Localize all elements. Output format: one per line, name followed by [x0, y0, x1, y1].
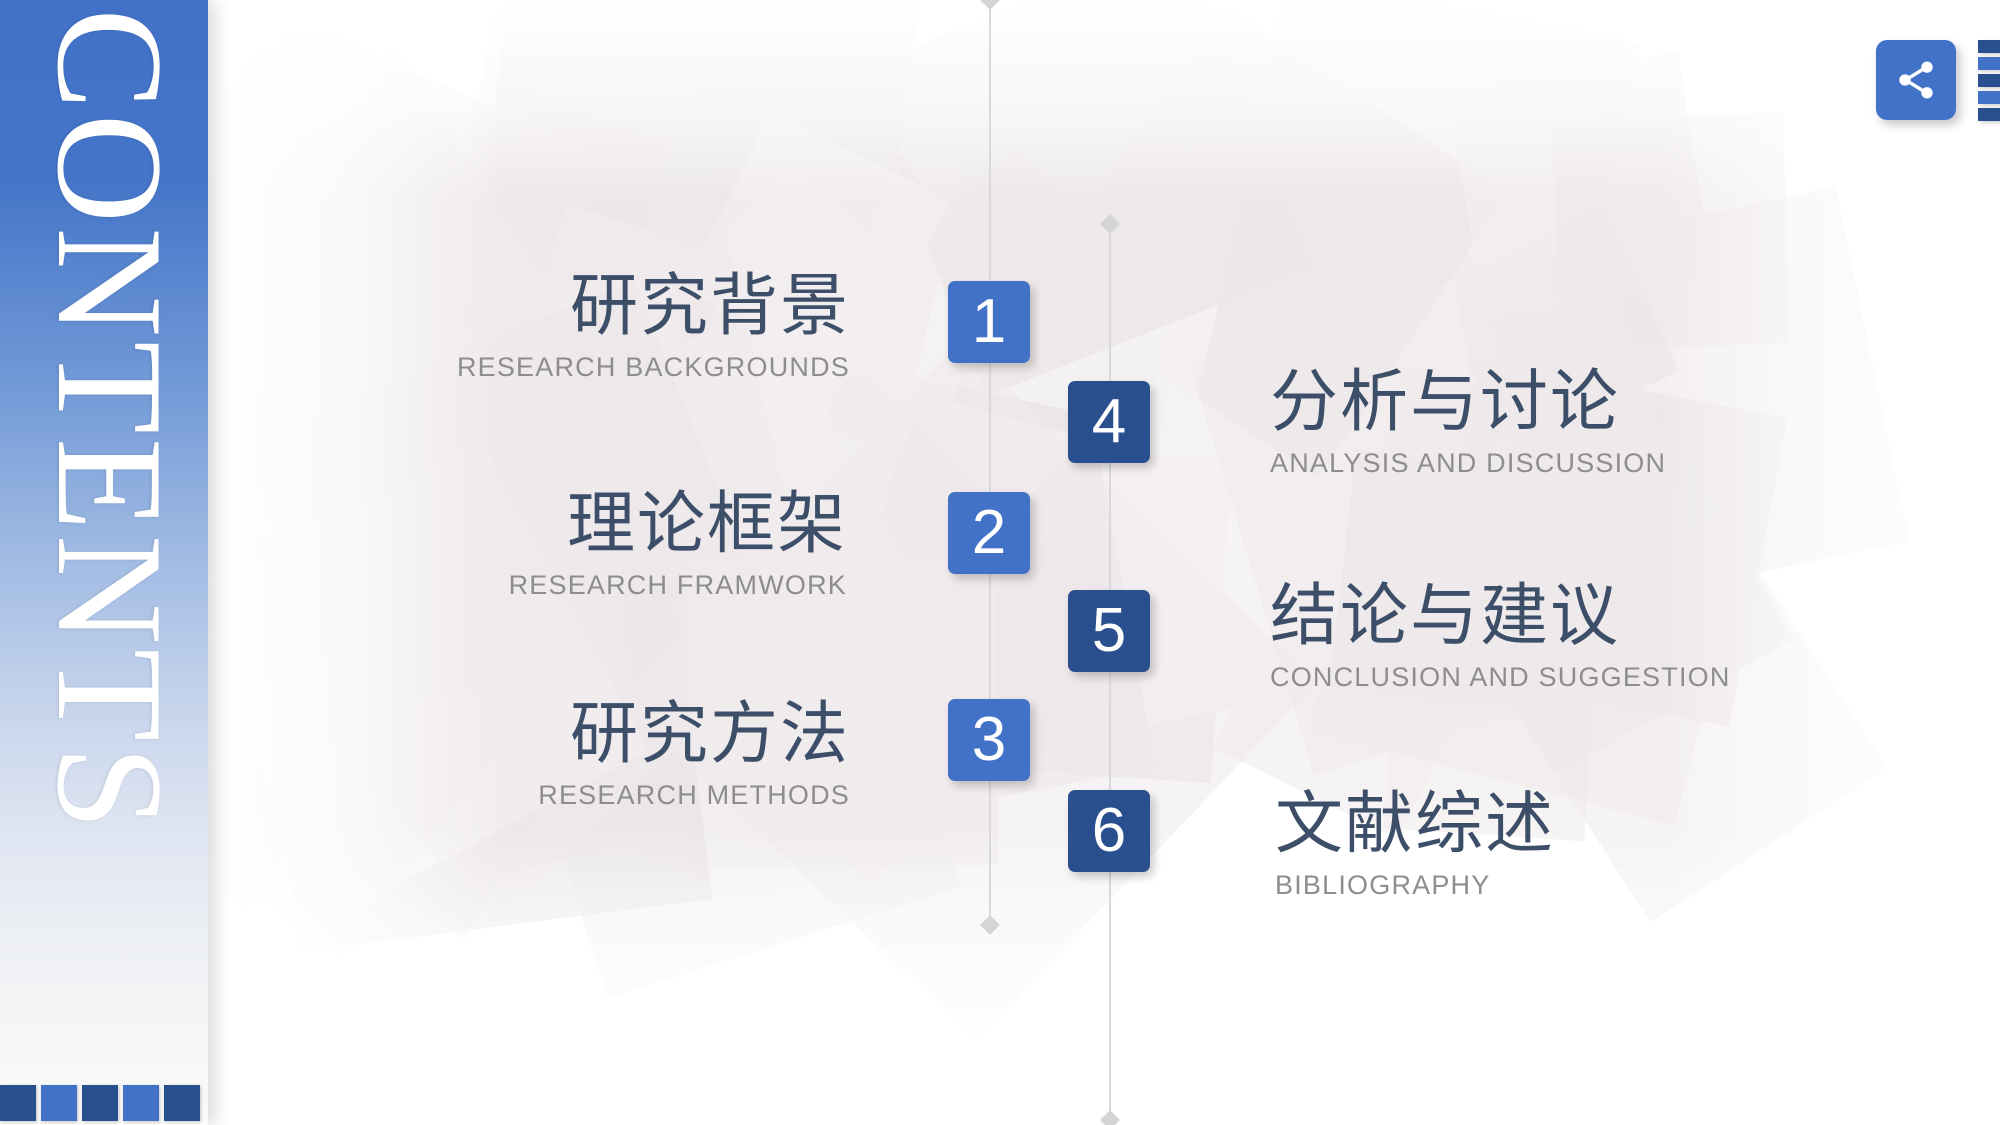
contents-item-6[interactable]: 文献综述 BIBLIOGRAPHY — [1275, 790, 1660, 899]
share-button[interactable] — [1876, 40, 1956, 120]
stack-bar-2 — [1978, 57, 2000, 70]
contents-item-4-title: 分析与讨论 — [1270, 368, 1655, 436]
contents-slide: 研究背景 RESEARCH BACKGROUNDS 理论框架 RESEARCH … — [0, 0, 2000, 1125]
contents-item-4[interactable]: 分析与讨论 ANALYSIS AND DISCUSSION — [1270, 368, 1655, 477]
stack-bar-3 — [1978, 74, 2000, 87]
sidebar: CONTENTS — [0, 0, 208, 1125]
stack-bar-5 — [1978, 108, 2000, 121]
contents-item-2-subtitle: RESEARCH FRAMWORK — [360, 572, 847, 599]
contents-item-3-title: 研究方法 — [360, 700, 850, 768]
bottom-color-blocks — [0, 1085, 200, 1125]
sidebar-title: CONTENTS — [34, 0, 186, 861]
bottom-block-2 — [41, 1085, 77, 1121]
contents-item-3[interactable]: 研究方法 RESEARCH METHODS — [360, 700, 850, 809]
bottom-block-3 — [82, 1085, 118, 1121]
contents-item-2-title: 理论框架 — [360, 490, 847, 558]
stack-bar-1 — [1978, 40, 2000, 53]
contents-badge-6[interactable]: 6 — [1068, 790, 1150, 872]
contents-item-3-subtitle: RESEARCH METHODS — [360, 782, 850, 809]
bar-stack — [1978, 40, 2000, 121]
background-fade-right — [1660, 0, 2000, 1125]
contents-item-6-subtitle: BIBLIOGRAPHY — [1275, 872, 1660, 899]
timeline-rail-right — [1109, 224, 1111, 1125]
contents-badge-2[interactable]: 2 — [948, 492, 1030, 574]
contents-item-5-title: 结论与建议 — [1270, 582, 1655, 650]
stack-bar-4 — [1978, 91, 2000, 104]
contents-item-5-subtitle: CONCLUSION AND SUGGESTION — [1270, 664, 1655, 691]
contents-item-6-title: 文献综述 — [1275, 790, 1660, 858]
contents-badge-3[interactable]: 3 — [948, 699, 1030, 781]
contents-item-5[interactable]: 结论与建议 CONCLUSION AND SUGGESTION — [1270, 582, 1655, 691]
contents-item-4-subtitle: ANALYSIS AND DISCUSSION — [1270, 450, 1655, 477]
share-icon — [1894, 58, 1938, 102]
contents-badge-4[interactable]: 4 — [1068, 381, 1150, 463]
bottom-block-4 — [123, 1085, 159, 1121]
contents-item-1-title: 研究背景 — [360, 272, 850, 340]
contents-item-1[interactable]: 研究背景 RESEARCH BACKGROUNDS — [360, 272, 850, 381]
contents-item-1-subtitle: RESEARCH BACKGROUNDS — [360, 354, 850, 381]
bottom-block-5 — [164, 1085, 200, 1121]
contents-badge-1[interactable]: 1 — [948, 281, 1030, 363]
bottom-block-1 — [0, 1085, 36, 1121]
timeline-rail-left — [989, 0, 991, 925]
contents-item-2[interactable]: 理论框架 RESEARCH FRAMWORK — [360, 490, 847, 599]
contents-badge-5[interactable]: 5 — [1068, 590, 1150, 672]
